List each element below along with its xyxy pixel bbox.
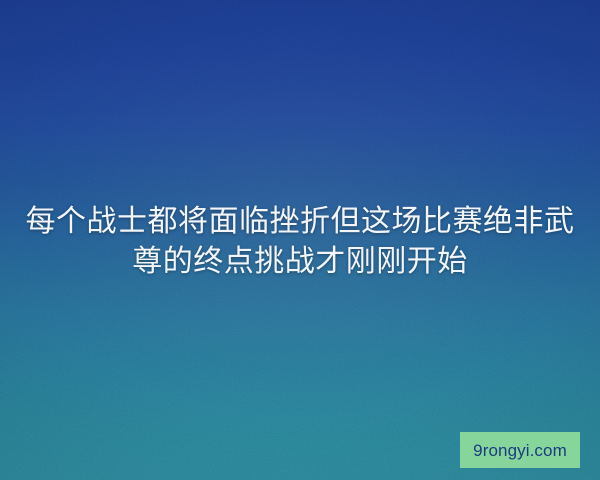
watermark-label: 9rongyi.com	[473, 442, 567, 459]
watermark-badge: 9rongyi.com	[460, 432, 580, 468]
image-canvas: 每个战士都将面临挫折但这场比赛绝非武 尊的终点挑战才刚刚开始 9rongyi.c…	[0, 0, 600, 480]
caption-text: 每个战士都将面临挫折但这场比赛绝非武 尊的终点挑战才刚刚开始	[0, 202, 600, 282]
